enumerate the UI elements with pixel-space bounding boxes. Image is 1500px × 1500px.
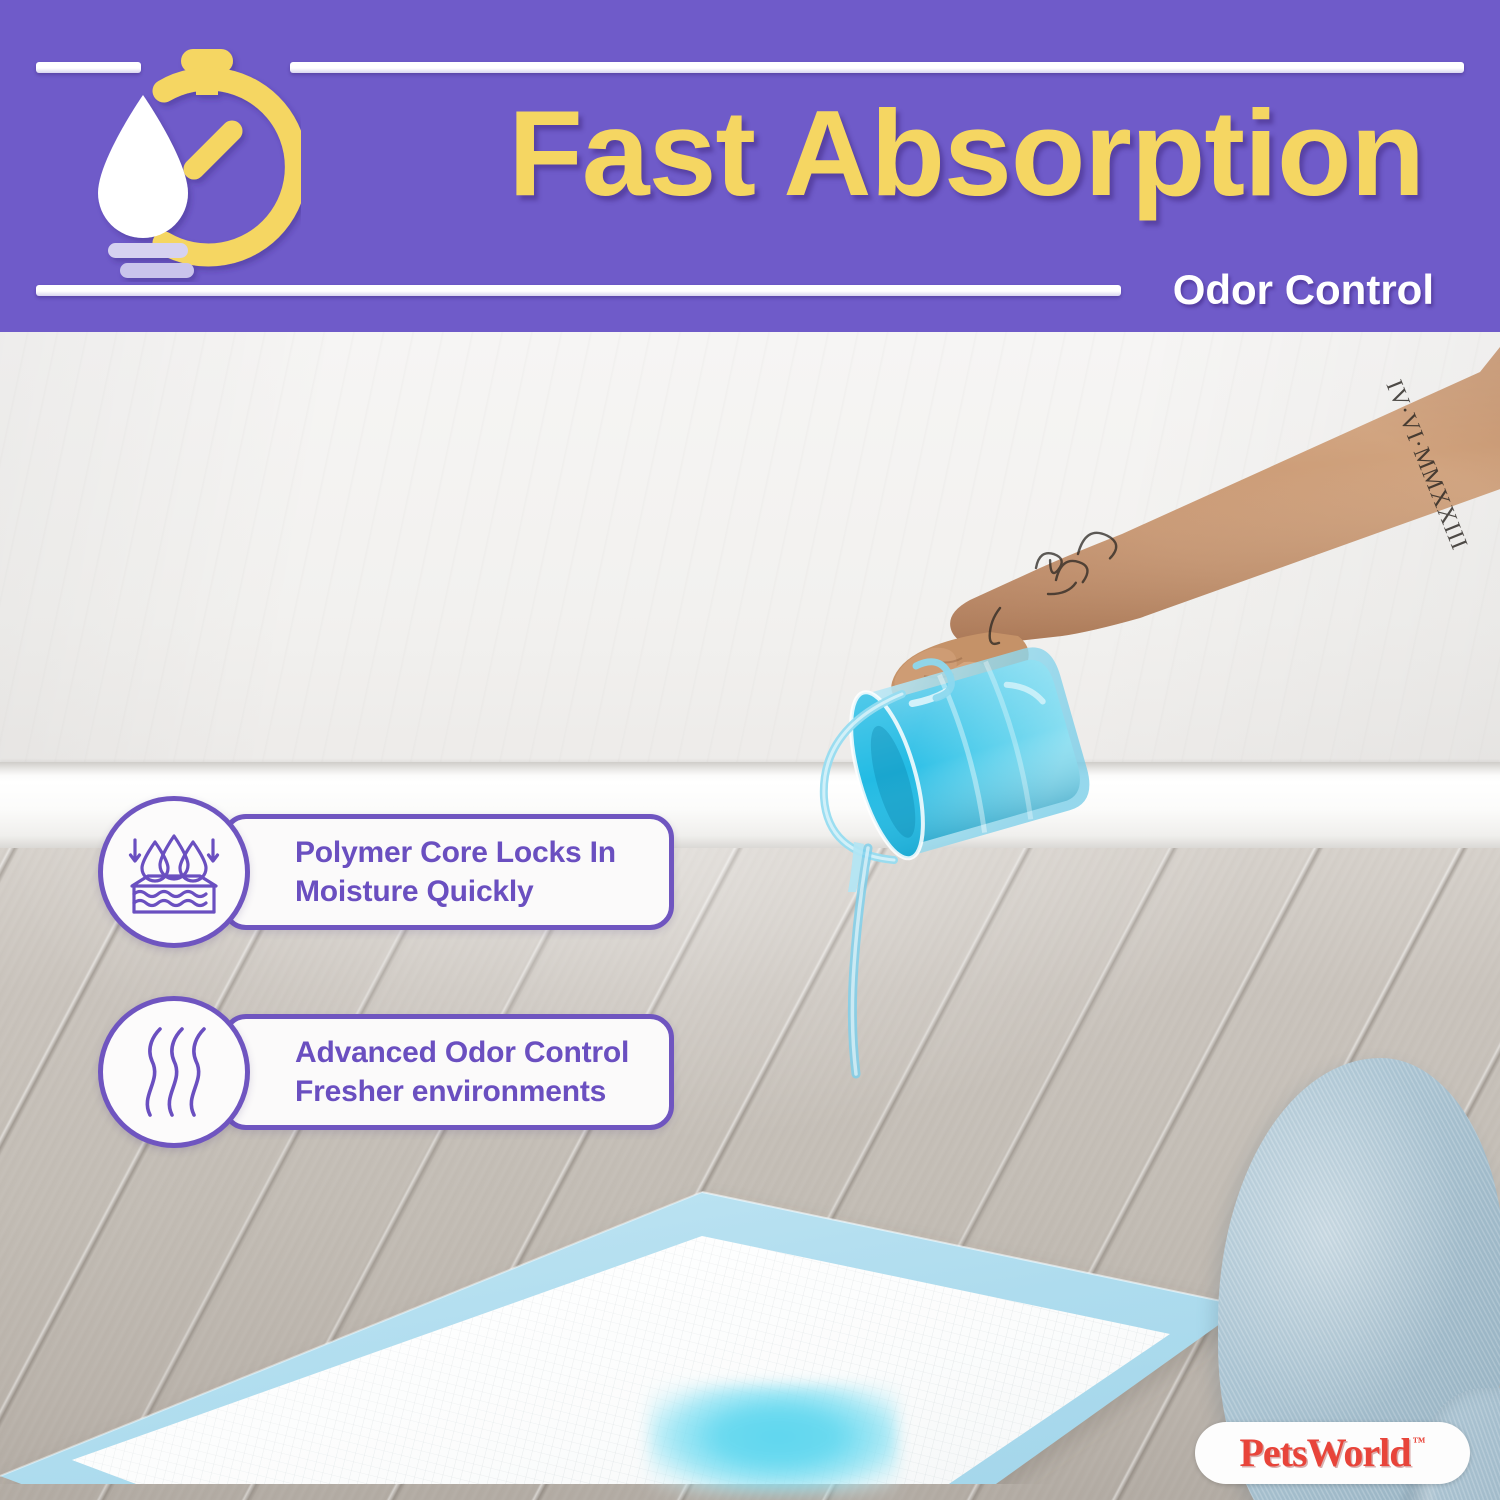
feature-text-odor-control: Advanced Odor Control Fresher environmen… (222, 1014, 674, 1130)
odor-waves-icon (98, 996, 250, 1148)
baseboard-top-lip (0, 762, 1500, 776)
page-subtitle: Odor Control (0, 266, 1434, 314)
product-feature-image: IV·VI·MMXXIII (0, 0, 1500, 1500)
absorbing-droplets-icon (98, 796, 250, 948)
header-rule-top-right (290, 62, 1464, 73)
brand-name: PetsWorld (1240, 1433, 1411, 1473)
feature-line-2: Moisture Quickly (295, 872, 669, 911)
page-title: Fast Absorption (0, 92, 1424, 214)
feature-badge-polymer-core[interactable]: Polymer Core Locks In Moisture Quickly (98, 796, 674, 948)
absorbed-liquid-stain (648, 1384, 898, 1494)
feature-line-1: Advanced Odor Control (295, 1033, 669, 1072)
feature-text-polymer-core: Polymer Core Locks In Moisture Quickly (222, 814, 674, 930)
feature-badge-odor-control[interactable]: Advanced Odor Control Fresher environmen… (98, 996, 674, 1148)
feature-line-2: Fresher environments (295, 1072, 669, 1111)
header-banner: Fast Absorption Odor Control (0, 0, 1500, 332)
brand-logo: PetsWorld ™ (1195, 1422, 1470, 1484)
pouring-stream (828, 848, 968, 1078)
trademark-symbol: ™ (1412, 1435, 1425, 1448)
product-photo: IV·VI·MMXXIII (0, 332, 1500, 1500)
feature-line-1: Polymer Core Locks In (295, 833, 669, 872)
